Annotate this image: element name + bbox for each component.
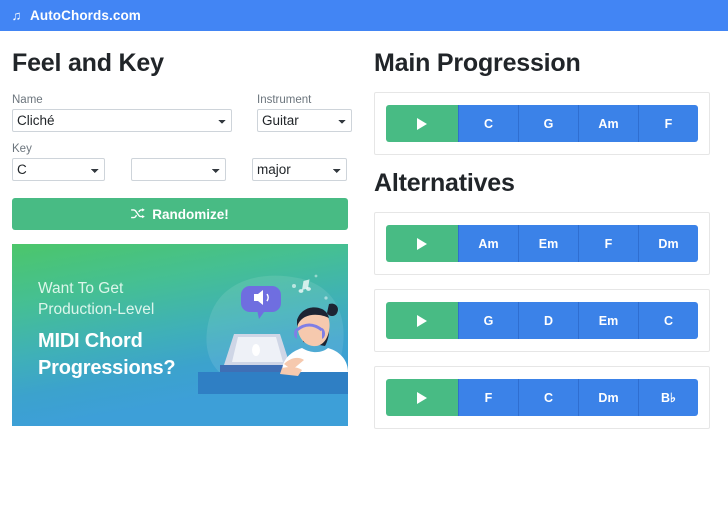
brand-logo[interactable]: ♫ AutoChords.com bbox=[10, 8, 141, 23]
name-field-group: Name Cliché bbox=[12, 94, 232, 132]
chord-button[interactable]: Dm bbox=[578, 379, 638, 416]
chord-button[interactable]: C bbox=[458, 105, 518, 142]
scale-field-group: major bbox=[252, 158, 347, 181]
music-note-icon: ♫ bbox=[10, 9, 23, 22]
left-column: Feel and Key Name Cliché Instrument Guit… bbox=[0, 31, 364, 443]
play-button[interactable] bbox=[386, 225, 458, 262]
play-button[interactable] bbox=[386, 379, 458, 416]
chord-row: G D Em C bbox=[386, 302, 698, 339]
chord-button[interactable]: Em bbox=[578, 302, 638, 339]
feel-and-key-title: Feel and Key bbox=[12, 49, 352, 78]
alternatives-title: Alternatives bbox=[374, 169, 710, 198]
randomize-button[interactable]: Randomize! bbox=[12, 198, 348, 230]
promo-illustration bbox=[198, 264, 348, 394]
name-instrument-row: Name Cliché Instrument Guitar bbox=[12, 94, 352, 132]
randomize-label: Randomize! bbox=[152, 207, 229, 222]
name-label: Name bbox=[12, 94, 232, 106]
chord-button[interactable]: F bbox=[458, 379, 518, 416]
key-label: Key bbox=[12, 143, 105, 155]
chord-button[interactable]: D bbox=[518, 302, 578, 339]
alternative-progression-card: F C Dm B♭ bbox=[374, 366, 710, 429]
chord-button[interactable]: G bbox=[458, 302, 518, 339]
alternative-progression-card: G D Em C bbox=[374, 289, 710, 352]
play-icon bbox=[417, 392, 427, 404]
chord-button[interactable]: C bbox=[638, 302, 698, 339]
chord-button[interactable]: F bbox=[638, 105, 698, 142]
instrument-select[interactable]: Guitar bbox=[257, 109, 352, 132]
chord-button[interactable]: Am bbox=[578, 105, 638, 142]
play-button[interactable] bbox=[386, 105, 458, 142]
instrument-field-group: Instrument Guitar bbox=[257, 94, 352, 132]
accidental-field-group bbox=[131, 158, 226, 181]
promo-line-2: Production-Level bbox=[38, 299, 175, 320]
promo-text-block: Want To Get Production-Level MIDI Chord … bbox=[38, 278, 175, 382]
play-icon bbox=[417, 118, 427, 130]
chord-row: C G Am F bbox=[386, 105, 698, 142]
chord-button[interactable]: B♭ bbox=[638, 379, 698, 416]
chord-button[interactable]: Dm bbox=[638, 225, 698, 262]
accidental-select[interactable] bbox=[131, 158, 226, 181]
main-progression-card: C G Am F bbox=[374, 92, 710, 155]
main-progression-title: Main Progression bbox=[374, 49, 710, 78]
shuffle-icon bbox=[131, 208, 145, 220]
instrument-label: Instrument bbox=[257, 94, 352, 106]
name-select[interactable]: Cliché bbox=[12, 109, 232, 132]
chord-button[interactable]: G bbox=[518, 105, 578, 142]
chord-button[interactable]: C bbox=[518, 379, 578, 416]
right-column: Main Progression C G Am F Alternatives A… bbox=[364, 31, 728, 443]
chord-button[interactable]: F bbox=[578, 225, 638, 262]
promo-line-1: Want To Get bbox=[38, 278, 175, 299]
scale-select[interactable]: major bbox=[252, 158, 347, 181]
brand-label: AutoChords.com bbox=[30, 8, 141, 23]
chord-row: Am Em F Dm bbox=[386, 225, 698, 262]
alternative-progression-card: Am Em F Dm bbox=[374, 212, 710, 275]
chord-row: F C Dm B♭ bbox=[386, 379, 698, 416]
key-field-group: Key C bbox=[12, 143, 105, 181]
play-icon bbox=[417, 315, 427, 327]
promo-banner[interactable]: Want To Get Production-Level MIDI Chord … bbox=[12, 244, 348, 426]
top-navbar: ♫ AutoChords.com bbox=[0, 0, 728, 31]
key-select[interactable]: C bbox=[12, 158, 105, 181]
promo-bold-1: MIDI Chord bbox=[38, 328, 175, 355]
play-icon bbox=[417, 238, 427, 250]
chord-button[interactable]: Em bbox=[518, 225, 578, 262]
page-body: Feel and Key Name Cliché Instrument Guit… bbox=[0, 31, 728, 443]
chord-button[interactable]: Am bbox=[458, 225, 518, 262]
play-button[interactable] bbox=[386, 302, 458, 339]
promo-bold-2: Progressions? bbox=[38, 355, 175, 382]
key-row: Key C major bbox=[12, 143, 352, 181]
